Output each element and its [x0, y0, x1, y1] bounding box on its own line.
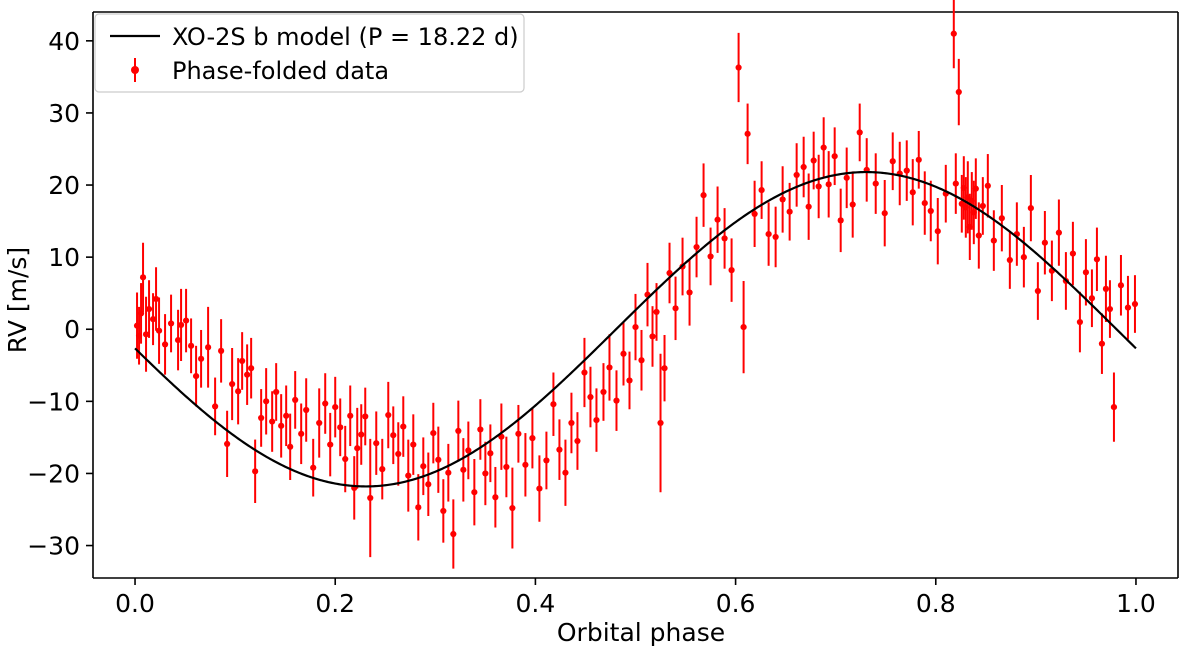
data-point	[653, 309, 659, 315]
data-point	[373, 440, 379, 446]
data-point	[460, 467, 466, 473]
data-point	[440, 508, 446, 514]
data-point	[963, 204, 969, 210]
data-point	[410, 442, 416, 448]
data-point	[420, 463, 426, 469]
data-point	[162, 341, 168, 347]
y-tick-label: 30	[48, 99, 80, 128]
data-point	[263, 398, 269, 404]
data-point	[613, 398, 619, 404]
data-point	[951, 31, 957, 37]
data-point	[740, 324, 746, 330]
data-point	[1070, 250, 1076, 256]
data-point	[961, 185, 967, 191]
data-point	[714, 217, 720, 223]
data-point	[985, 183, 991, 189]
data-point	[134, 323, 140, 329]
data-point	[850, 201, 856, 207]
data-point	[188, 343, 194, 349]
data-point	[292, 397, 298, 403]
data-point	[235, 388, 241, 394]
data-point	[811, 157, 817, 163]
data-point	[910, 189, 916, 195]
data-point	[956, 89, 962, 95]
data-point	[600, 389, 606, 395]
data-point	[882, 210, 888, 216]
data-point	[435, 457, 441, 463]
data-point	[759, 187, 765, 193]
data-point	[787, 209, 793, 215]
data-point	[354, 445, 360, 451]
data-point	[150, 316, 156, 322]
data-point	[168, 320, 174, 326]
data-point	[543, 457, 549, 463]
data-point	[248, 365, 254, 371]
data-point	[487, 450, 493, 456]
data-point	[303, 407, 309, 413]
data-point	[794, 172, 800, 178]
data-point	[140, 274, 146, 280]
data-point	[1118, 282, 1124, 288]
data-point	[838, 217, 844, 223]
data-point	[536, 485, 542, 491]
data-point	[138, 310, 144, 316]
data-point	[973, 186, 979, 192]
data-point	[218, 348, 224, 354]
data-point	[450, 531, 456, 537]
data-point	[425, 481, 431, 487]
data-point	[342, 456, 348, 462]
data-point	[529, 435, 535, 441]
data-point	[1132, 301, 1138, 307]
data-point	[229, 381, 235, 387]
figure-canvas: 0.00.20.40.60.81.0 −30−20−10010203040 Or…	[0, 0, 1200, 653]
data-point	[337, 424, 343, 430]
data-point	[568, 420, 574, 426]
data-point	[745, 131, 751, 137]
data-point	[707, 253, 713, 259]
data-point	[999, 215, 1005, 221]
data-point	[471, 489, 477, 495]
data-point	[953, 181, 959, 187]
data-point	[1007, 257, 1013, 263]
data-point	[405, 473, 411, 479]
x-tick-label: 1.0	[1116, 589, 1156, 618]
data-point	[821, 144, 827, 150]
data-point	[515, 431, 521, 437]
y-tick-label: 20	[48, 171, 80, 200]
x-tick-label: 0.0	[115, 589, 155, 618]
data-point	[322, 400, 328, 406]
data-point	[390, 432, 396, 438]
data-point	[904, 168, 910, 174]
data-point	[766, 231, 772, 237]
data-point	[991, 237, 997, 243]
data-point	[522, 462, 528, 468]
data-point	[492, 494, 498, 500]
data-point	[857, 129, 863, 135]
data-point	[606, 364, 612, 370]
x-tick-label: 0.4	[516, 589, 556, 618]
y-axis-label: RV [m/s]	[3, 247, 32, 353]
data-point	[183, 317, 189, 323]
data-point	[1028, 205, 1034, 211]
data-point	[935, 228, 941, 234]
y-tick-label: 40	[48, 27, 80, 56]
data-point	[1103, 286, 1109, 292]
data-point	[136, 333, 142, 339]
data-point	[362, 413, 368, 419]
data-point	[649, 333, 655, 339]
data-point	[347, 413, 353, 419]
data-point	[310, 465, 316, 471]
data-point	[332, 404, 338, 410]
x-tick-label: 0.8	[916, 589, 956, 618]
data-point	[826, 181, 832, 187]
data-point	[587, 394, 593, 400]
data-point	[1083, 269, 1089, 275]
data-point	[780, 196, 786, 202]
data-point	[327, 442, 333, 448]
data-point	[198, 356, 204, 362]
data-point	[581, 369, 587, 375]
data-point	[976, 232, 982, 238]
data-point	[657, 420, 663, 426]
data-point	[873, 181, 879, 187]
x-tick-label: 0.2	[315, 589, 355, 618]
data-point	[509, 505, 515, 511]
legend-marker-sample	[131, 66, 139, 74]
data-point	[153, 296, 159, 302]
data-point	[175, 337, 181, 343]
data-point	[967, 224, 973, 230]
data-point	[1035, 288, 1041, 294]
data-point	[287, 444, 293, 450]
data-point	[922, 200, 928, 206]
data-point	[316, 420, 322, 426]
data-point	[928, 208, 934, 214]
data-point	[244, 372, 250, 378]
data-point	[156, 328, 162, 334]
data-point	[1099, 341, 1105, 347]
data-point	[273, 389, 279, 395]
data-point	[672, 305, 678, 311]
data-point	[477, 426, 483, 432]
data-point	[980, 203, 986, 209]
legend-label-data: Phase-folded data	[172, 57, 389, 85]
data-point	[1125, 305, 1131, 311]
data-point	[773, 234, 779, 240]
data-point	[801, 164, 807, 170]
data-point	[358, 431, 364, 437]
rv-phase-plot: 0.00.20.40.60.81.0 −30−20−10010203040 Or…	[0, 0, 1200, 653]
data-point	[400, 423, 406, 429]
data-point	[1107, 306, 1113, 312]
data-point	[721, 235, 727, 241]
y-tick-label: 10	[48, 243, 80, 272]
data-point	[224, 441, 230, 447]
data-point	[269, 418, 275, 424]
data-point	[1056, 230, 1062, 236]
data-point	[806, 204, 812, 210]
data-point	[632, 324, 638, 330]
data-point	[143, 331, 149, 337]
data-point	[832, 153, 838, 159]
data-point	[455, 428, 461, 434]
data-point	[700, 192, 706, 198]
data-point	[1021, 254, 1027, 260]
data-point	[971, 209, 977, 215]
y-tick-label: −10	[27, 387, 80, 416]
data-point	[574, 438, 580, 444]
data-point	[735, 64, 741, 70]
data-point	[1111, 404, 1117, 410]
data-point	[283, 413, 289, 419]
data-point	[728, 267, 734, 273]
data-point	[844, 175, 850, 181]
data-point	[385, 412, 391, 418]
y-tick-label: −30	[27, 532, 80, 561]
data-point	[258, 415, 264, 421]
data-point	[298, 431, 304, 437]
data-point	[638, 357, 644, 363]
data-point	[916, 157, 922, 163]
data-point	[556, 447, 562, 453]
data-point	[686, 289, 692, 295]
y-tick-label: 0	[64, 315, 80, 344]
data-point	[239, 358, 245, 364]
y-tick-label: −20	[27, 459, 80, 488]
data-point	[593, 417, 599, 423]
data-point	[550, 401, 556, 407]
data-point	[445, 470, 451, 476]
data-point	[205, 344, 211, 350]
data-point	[278, 423, 284, 429]
data-point	[415, 504, 421, 510]
legend-label-model: XO-2S b model (P = 18.22 d)	[172, 23, 519, 51]
data-point	[1094, 256, 1100, 262]
data-point	[1089, 295, 1095, 301]
data-point	[626, 377, 632, 383]
data-point	[1077, 319, 1083, 325]
data-point	[146, 306, 152, 312]
x-axis-label: Orbital phase	[557, 618, 725, 647]
data-point	[395, 451, 401, 457]
data-point	[430, 430, 436, 436]
data-point	[193, 373, 199, 379]
data-point	[1042, 240, 1048, 246]
data-point	[503, 464, 509, 470]
data-point	[212, 403, 218, 409]
data-point	[693, 244, 699, 250]
x-tick-label: 0.6	[716, 589, 756, 618]
data-point	[367, 495, 373, 501]
data-point	[562, 470, 568, 476]
data-point	[816, 183, 822, 189]
data-point	[482, 470, 488, 476]
data-point	[890, 158, 896, 164]
data-point	[379, 466, 385, 472]
data-point	[178, 322, 184, 328]
data-point	[252, 468, 258, 474]
legend[interactable]: XO-2S b model (P = 18.22 d) Phase-folded…	[95, 14, 524, 92]
data-point	[661, 365, 667, 371]
data-point	[620, 351, 626, 357]
